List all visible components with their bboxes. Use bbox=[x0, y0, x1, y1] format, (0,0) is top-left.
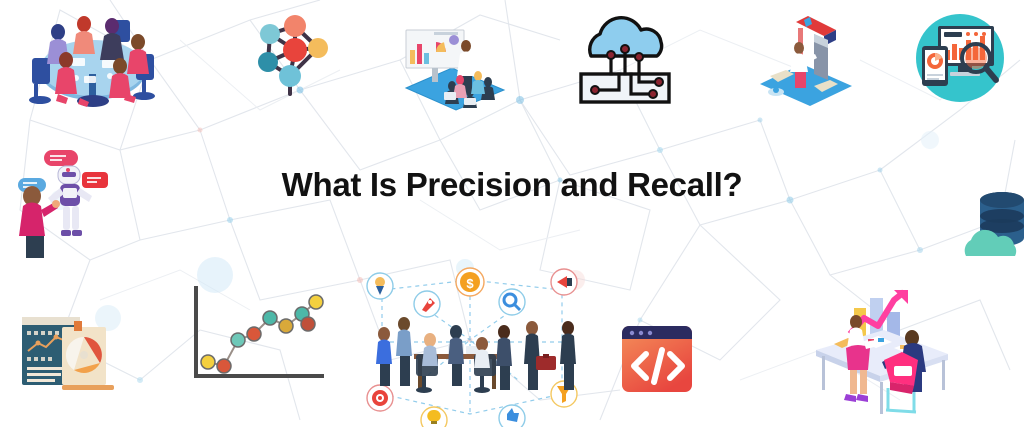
cloud-computing-icon bbox=[565, 8, 685, 108]
page-title: What Is Precision and Recall? bbox=[0, 166, 1024, 204]
presentation-illustration bbox=[392, 20, 514, 112]
node-graph-icon bbox=[248, 6, 344, 98]
svg-text:$: $ bbox=[466, 276, 474, 291]
kiosk-illustration bbox=[752, 4, 862, 112]
report-charts-icon bbox=[14, 305, 114, 395]
meeting-table-illustration bbox=[14, 2, 172, 120]
analytics-badge-icon bbox=[908, 6, 1012, 110]
desk-analytics-illustration bbox=[798, 282, 958, 418]
code-window-icon bbox=[618, 320, 696, 398]
line-chart-illustration bbox=[180, 280, 330, 390]
team-strategy-illustration: $ bbox=[352, 262, 592, 427]
banner-hero: What Is Precision and Recall? bbox=[0, 0, 1024, 427]
